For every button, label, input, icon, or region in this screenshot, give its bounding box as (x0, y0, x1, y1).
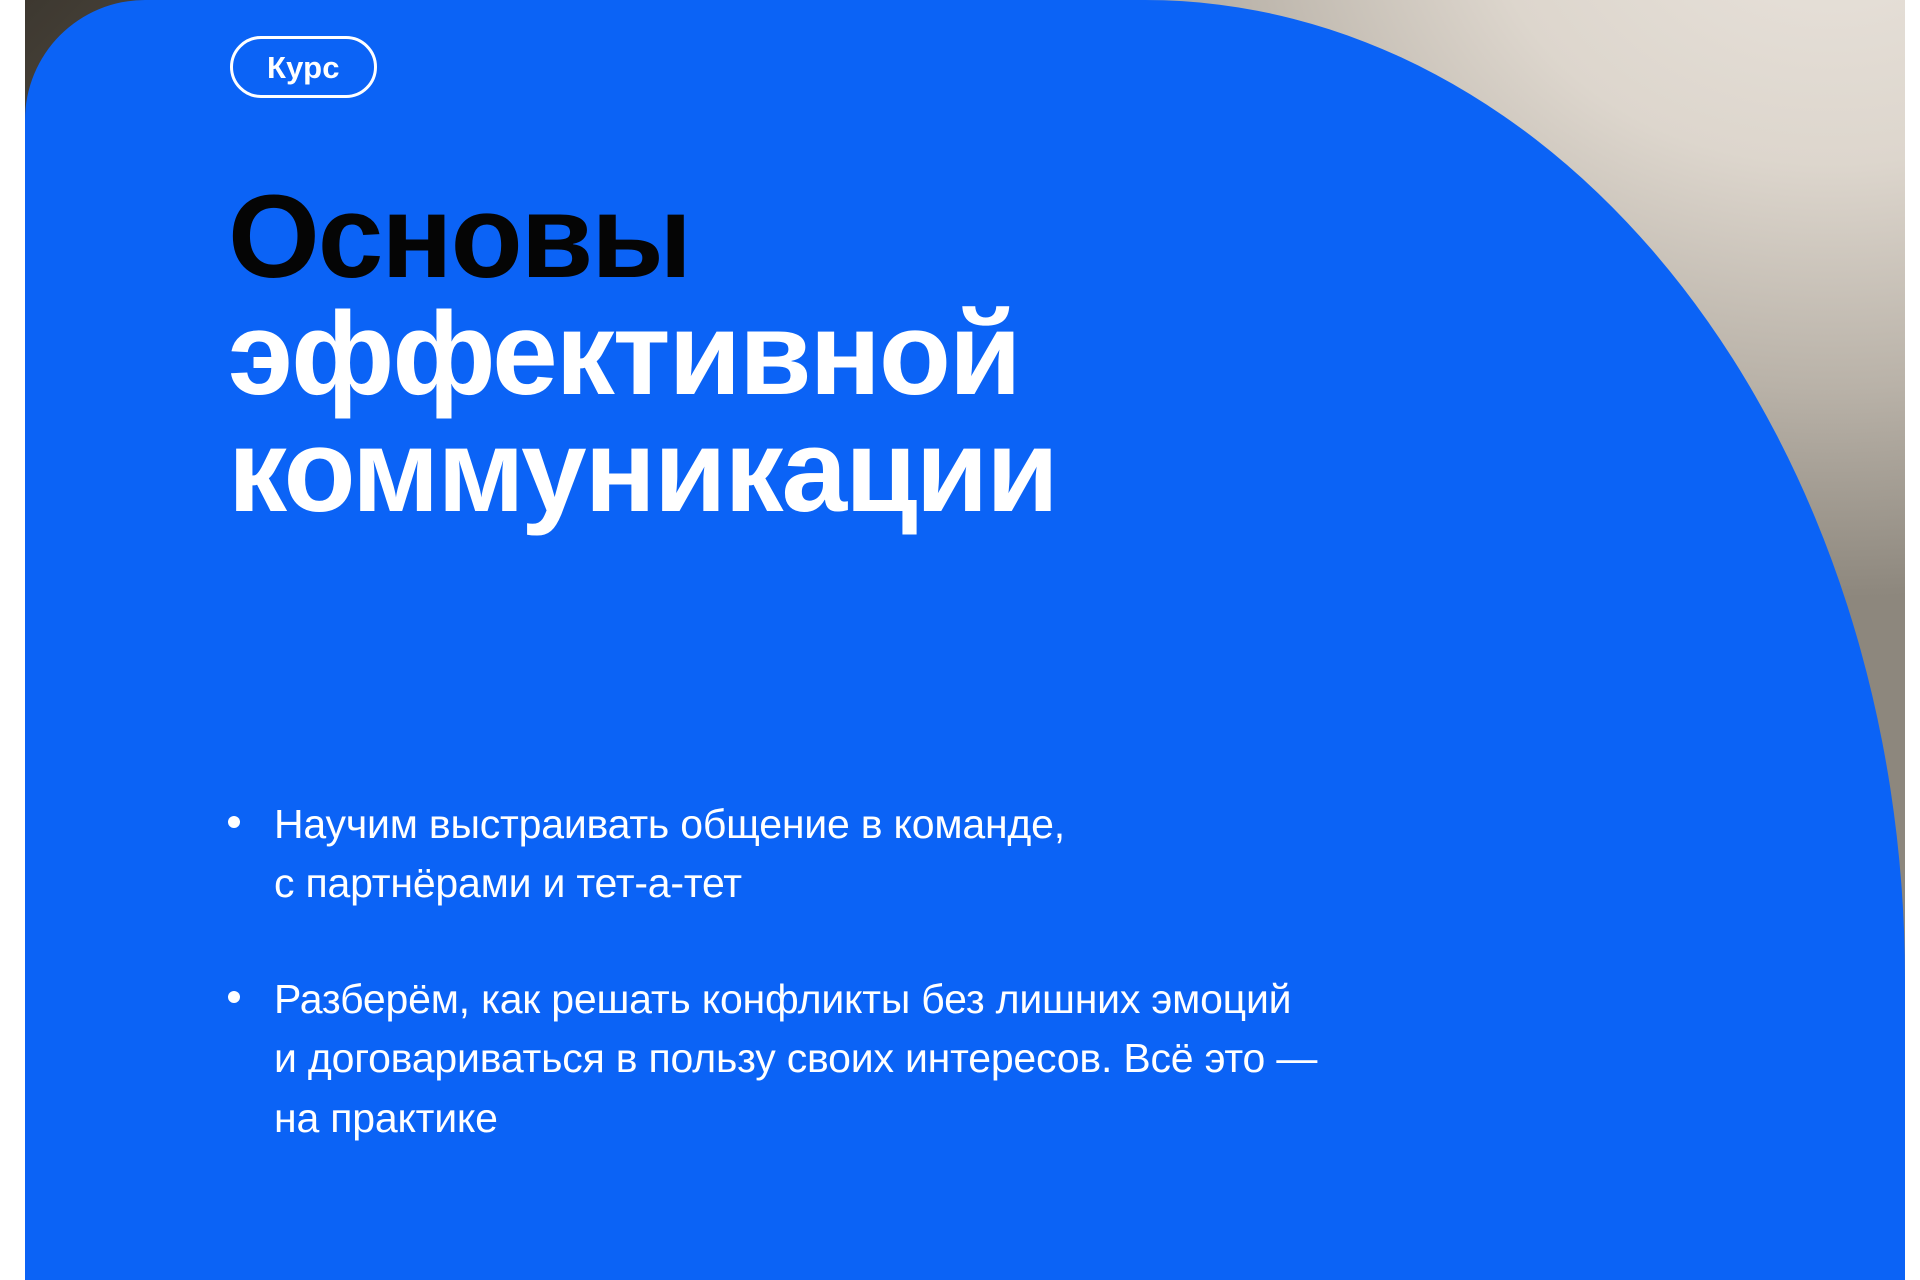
page-title-line-2: эффективной (228, 296, 1528, 413)
hero-landing-page: Курс Основы эффективной коммуникации Нау… (0, 0, 1920, 1280)
list-item: Научим выстраивать общение в команде, с … (228, 795, 1648, 914)
course-type-badge-label: Курс (267, 52, 340, 83)
hero-content: Курс Основы эффективной коммуникации Нау… (0, 0, 1920, 1280)
list-item: Разберём, как решать конфликты без лишни… (228, 970, 1648, 1148)
list-item-text: Научим выстраивать общение в команде, с … (274, 795, 1065, 914)
page-title: Основы эффективной коммуникации (228, 179, 1528, 529)
bullet-dot-icon (228, 816, 240, 828)
list-item-text: Разберём, как решать конфликты без лишни… (274, 970, 1317, 1148)
bullet-dot-icon (228, 991, 240, 1003)
page-title-line-1: Основы (228, 179, 1528, 296)
hero-bullet-list: Научим выстраивать общение в команде, с … (228, 795, 1648, 1148)
course-type-badge[interactable]: Курс (230, 36, 377, 98)
page-title-line-3: коммуникации (228, 413, 1528, 530)
